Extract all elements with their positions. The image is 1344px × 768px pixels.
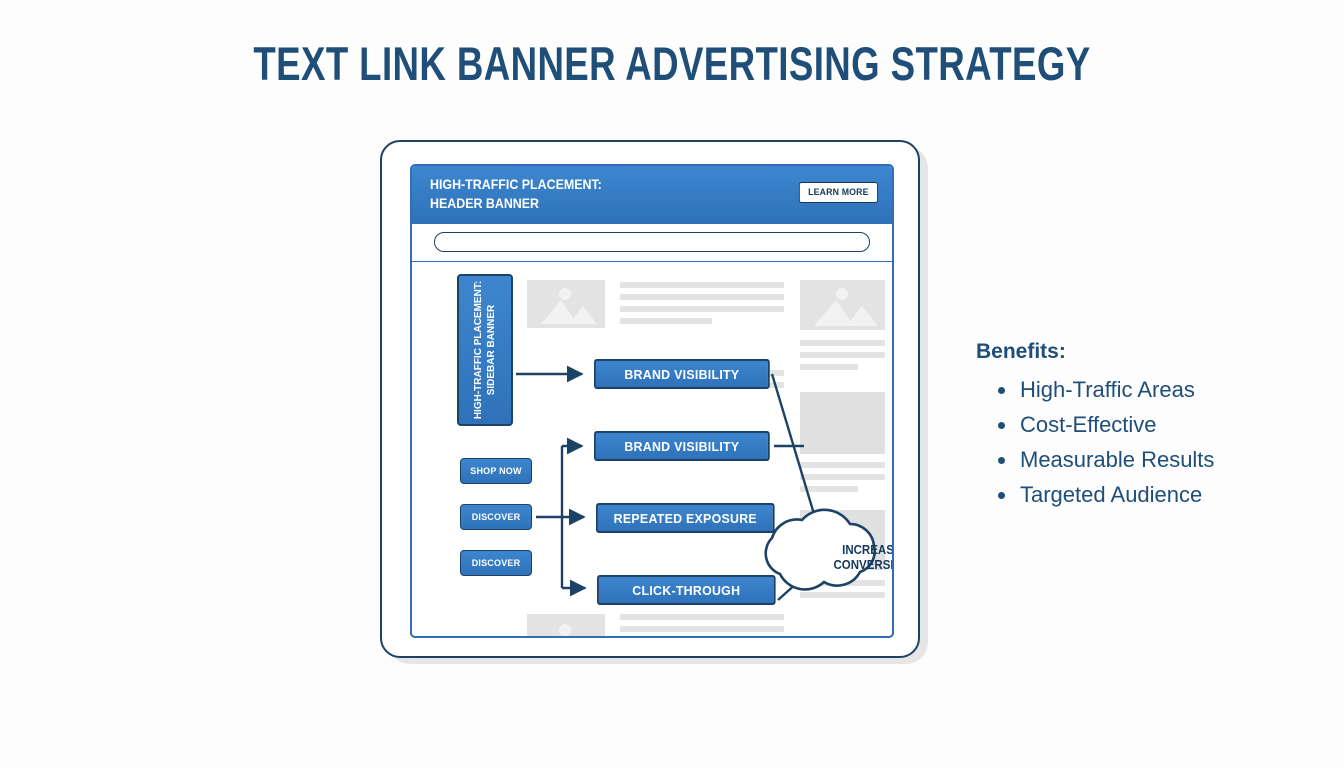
flow-box-click-through[interactable]: CLICK-THROUGH xyxy=(597,575,776,605)
header-banner-line2: HEADER BANNER xyxy=(430,194,602,213)
cta-button-discover-1[interactable]: DISCOVER xyxy=(460,504,532,530)
text-line-placeholder xyxy=(620,294,784,300)
benefits-item: Targeted Audience xyxy=(998,477,1306,512)
flow-box-brand-visibility-1[interactable]: BRAND VISIBILITY xyxy=(594,359,770,389)
benefits-item: Cost-Effective xyxy=(998,407,1306,442)
cta-button-shop-now[interactable]: SHOP NOW xyxy=(460,458,532,484)
text-line-placeholder xyxy=(620,306,784,312)
content-block-placeholder xyxy=(800,392,885,454)
header-banner-ad[interactable]: HIGH-TRAFFIC PLACEMENT: HEADER BANNER LE… xyxy=(412,166,892,224)
text-line-placeholder xyxy=(800,592,885,598)
image-placeholder-2 xyxy=(800,280,885,330)
text-line-placeholder xyxy=(800,462,885,468)
text-line-placeholder xyxy=(800,486,858,492)
text-line-placeholder xyxy=(620,614,784,620)
sidebar-banner-line2: SIDEBAR BANNER xyxy=(485,281,498,419)
browser-mockup-frame: HIGH-TRAFFIC PLACEMENT: HEADER BANNER LE… xyxy=(380,140,920,658)
outcome-line2: CONVERSIONS xyxy=(815,558,894,573)
sidebar-banner-ad[interactable]: HIGH-TRAFFIC PLACEMENT: SIDEBAR BANNER xyxy=(457,274,513,426)
browser-viewport: HIGH-TRAFFIC PLACEMENT: HEADER BANNER LE… xyxy=(410,164,894,638)
text-line-placeholder xyxy=(800,352,885,358)
url-input[interactable] xyxy=(434,232,870,252)
benefits-item: Measurable Results xyxy=(998,442,1306,477)
browser-toolbar xyxy=(412,224,892,262)
benefits-panel: Benefits: High-Traffic Areas Cost-Effect… xyxy=(976,340,1306,512)
text-line-placeholder xyxy=(800,340,885,346)
cta-button-discover-2[interactable]: DISCOVER xyxy=(460,550,532,576)
text-line-placeholder xyxy=(800,474,885,480)
text-line-placeholder xyxy=(800,580,885,586)
flow-box-repeated-exposure[interactable]: REPEATED EXPOSURE xyxy=(596,503,775,533)
text-line-placeholder xyxy=(620,626,784,632)
text-line-placeholder xyxy=(800,364,858,370)
outcome-line1: INCREASED xyxy=(815,543,894,558)
text-line-placeholder xyxy=(620,282,784,288)
benefits-list: High-Traffic Areas Cost-Effective Measur… xyxy=(976,372,1306,512)
page-title: TEXT LINK BANNER ADVERTISING STRATEGY xyxy=(148,36,1196,91)
text-line-placeholder xyxy=(620,318,712,324)
image-placeholder-3 xyxy=(527,614,605,638)
benefits-item: High-Traffic Areas xyxy=(998,372,1306,407)
header-banner-text: HIGH-TRAFFIC PLACEMENT: HEADER BANNER xyxy=(430,175,602,213)
sidebar-banner-text: HIGH-TRAFFIC PLACEMENT: SIDEBAR BANNER xyxy=(472,281,498,419)
image-placeholder-1 xyxy=(527,280,605,328)
learn-more-button[interactable]: LEARN MORE xyxy=(799,182,878,203)
benefits-heading: Benefits: xyxy=(976,340,1306,364)
page-content-area: HIGH-TRAFFIC PLACEMENT: SIDEBAR BANNER S… xyxy=(412,262,892,636)
outcome-cloud-label: INCREASED CONVERSIONS xyxy=(815,543,894,573)
sidebar-banner-line1: HIGH-TRAFFIC PLACEMENT: xyxy=(472,281,485,419)
header-banner-line1: HIGH-TRAFFIC PLACEMENT: xyxy=(430,175,602,194)
flow-box-brand-visibility-2[interactable]: BRAND VISIBILITY xyxy=(594,431,770,461)
